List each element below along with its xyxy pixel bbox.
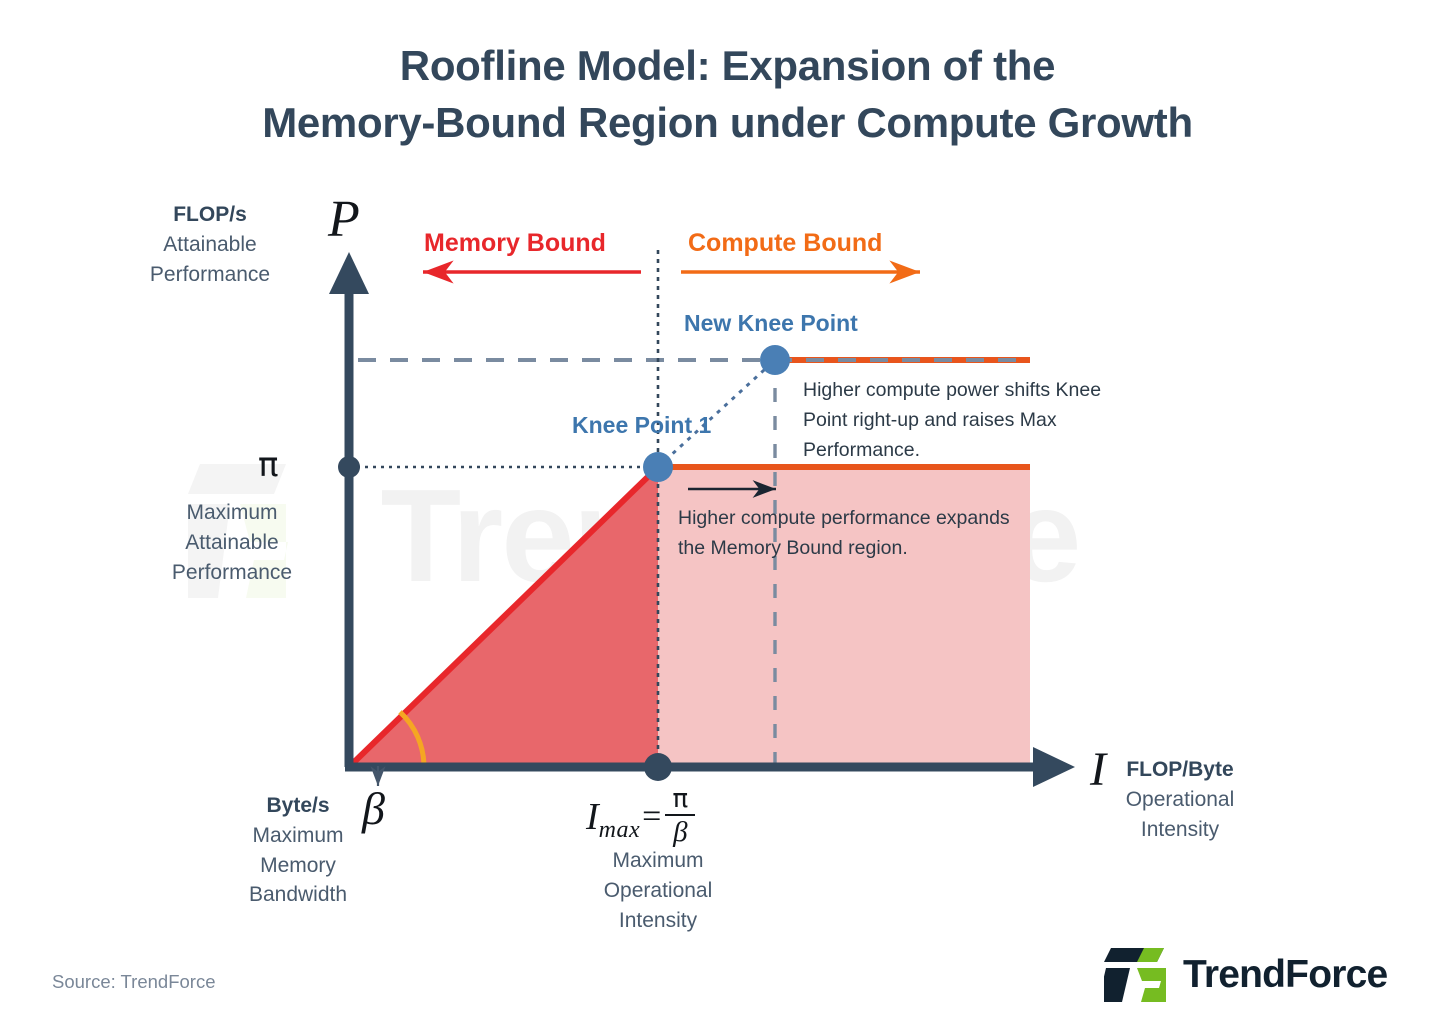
max-attainable-performance-label: Maximum Attainable Performance — [140, 498, 324, 587]
upper-note: Higher compute power shifts Knee Point r… — [803, 375, 1139, 466]
x-axis-label-group: FLOP/Byte Operational Intensity — [1088, 755, 1272, 844]
imax-formula: I max = π β — [586, 786, 695, 847]
y-axis-desc-line-2: Performance — [118, 260, 302, 290]
moi-line-3: Intensity — [568, 906, 748, 936]
moi-line-2: Operational — [568, 876, 748, 906]
pi-axis-marker — [338, 456, 360, 478]
compute-bound-label: Compute Bound — [688, 229, 882, 258]
y-axis-label-group: FLOP/s Attainable Performance — [118, 200, 302, 289]
imax-axis-marker — [644, 753, 672, 781]
lower-note: Higher compute performance expands the M… — [678, 503, 1028, 563]
new-knee-point-marker[interactable] — [760, 345, 790, 375]
trendforce-logo-icon — [1104, 944, 1170, 1006]
pi-symbol: π — [258, 445, 278, 485]
knee-point-1-marker[interactable] — [643, 452, 673, 482]
imax-equals: = — [640, 798, 665, 836]
y-axis-symbol: P — [328, 190, 360, 249]
x-axis-arrowhead — [1033, 747, 1075, 787]
infographic-canvas: Roofline Model: Expansion of the Memory-… — [0, 0, 1455, 1031]
y-axis-desc-line-1: Attainable — [118, 230, 302, 260]
imax-numerator: π — [673, 786, 689, 814]
bandwidth-desc-line-2: Memory — [208, 851, 388, 881]
bandwidth-label-group: Byte/s Maximum Memory Bandwidth — [208, 791, 388, 910]
imax-fraction: π β — [665, 786, 695, 847]
memory-bound-label: Memory Bound — [424, 229, 606, 258]
moi-line-1: Maximum — [568, 846, 748, 876]
bandwidth-desc-line-1: Maximum — [208, 821, 388, 851]
y-axis-arrowhead — [329, 252, 369, 294]
source-text: Source: TrendForce — [52, 971, 216, 993]
bandwidth-desc-line-3: Bandwidth — [208, 880, 388, 910]
max-operational-intensity-label: Maximum Operational Intensity — [568, 846, 748, 935]
x-axis-unit: FLOP/Byte — [1088, 755, 1272, 785]
x-axis-desc-line-2: Intensity — [1088, 815, 1272, 845]
max-perf-line-3: Performance — [140, 558, 324, 588]
knee-point-1-label: Knee Point 1 — [572, 412, 711, 439]
max-perf-line-1: Maximum — [140, 498, 324, 528]
new-knee-point-label: New Knee Point — [684, 310, 858, 337]
bandwidth-unit: Byte/s — [208, 791, 388, 821]
imax-variable: I — [586, 798, 599, 836]
y-axis-unit: FLOP/s — [118, 200, 302, 230]
trendforce-logo-text: TrendForce — [1183, 953, 1387, 997]
imax-subscript: max — [599, 817, 640, 847]
max-perf-line-2: Attainable — [140, 528, 324, 558]
imax-denominator: β — [673, 816, 687, 847]
x-axis-desc-line-1: Operational — [1088, 785, 1272, 815]
trendforce-logo: TrendForce — [1104, 944, 1387, 1006]
